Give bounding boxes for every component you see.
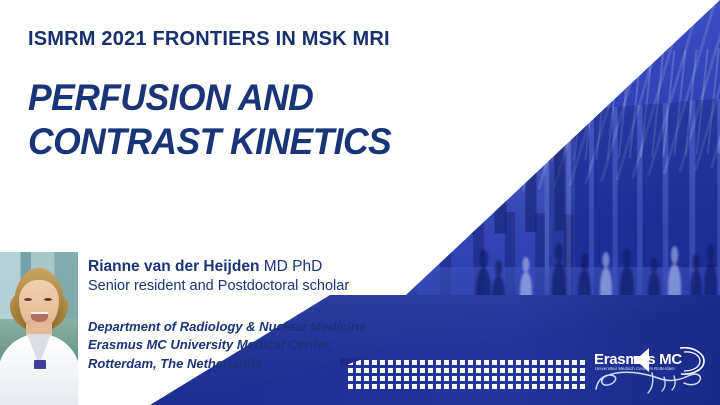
speaker-name: Rianne van der Heijden MD PhD <box>88 258 322 276</box>
speaker-name-text: Rianne van der Heijden <box>88 258 259 275</box>
avatar-eye-right <box>44 298 52 301</box>
speaker-role: Senior resident and Postdoctoral scholar <box>88 278 349 294</box>
page-title: PERFUSION AND CONTRAST KINETICS <box>28 76 391 163</box>
avatar <box>0 252 78 405</box>
speaker-affiliation: Department of Radiology & Nuclear Medici… <box>88 318 366 373</box>
speaker-degrees: MD PhD <box>259 258 322 275</box>
avatar-eye-left <box>24 298 32 301</box>
presentation-slide: Erasmus MC Universitair Medisch Centrum … <box>0 0 720 405</box>
avatar-smile <box>31 312 48 322</box>
square-grid-pattern <box>348 360 588 390</box>
speaker-icon[interactable] <box>628 343 662 377</box>
erasmus-mc-logo: Erasmus MC Universitair Medisch Centrum … <box>588 345 710 397</box>
avatar-badge <box>34 360 46 369</box>
event-kicker: ISMRM 2021 FRONTIERS IN MSK MRI <box>28 28 390 51</box>
